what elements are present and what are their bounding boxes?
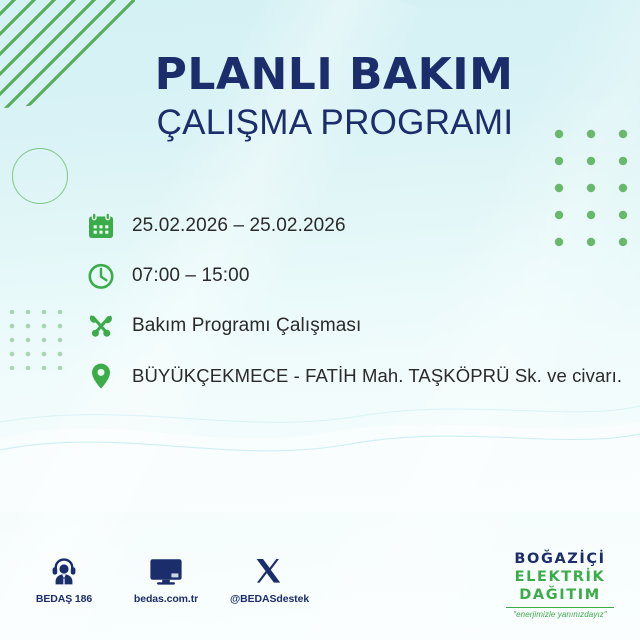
brand-tagline: "enerjimizle yanınızdayız" [494,610,626,619]
detail-value-time: 07:00 – 15:00 [132,265,250,287]
brand-line-dagitim: DAĞITIM [494,586,626,604]
detail-row-work-type: Bakım Programı Çalışması [84,302,632,350]
location-pin-icon [84,359,118,393]
maintenance-details-list: 25.02.2026 – 25.02.2026 07:00 – 15:00 [84,202,632,402]
footer: BEDAŞ 186 bedas.com.tr [0,544,640,640]
footer-link-website[interactable]: bedas.com.tr [128,552,204,605]
dot-grid-left-decoration [8,308,66,370]
footer-link-call-center[interactable]: BEDAŞ 186 [26,552,102,605]
x-social-icon [230,552,306,586]
monitor-icon [128,552,204,586]
poster-heading-block: PLANLI BAKIM ÇALIŞMA PROGRAMI [0,53,640,142]
page-subtitle: ÇALIŞMA PROGRAMI [0,104,640,143]
calendar-icon [84,209,118,243]
footer-label-website: bedas.com.tr [128,593,204,605]
footer-contact-links: BEDAŞ 186 bedas.com.tr [26,552,306,605]
page-title: PLANLI BAKIM [0,53,640,98]
detail-value-work-type: Bakım Programı Çalışması [132,315,361,337]
detail-value-date: 25.02.2026 – 25.02.2026 [132,215,346,237]
tools-icon [84,309,118,343]
detail-value-location: BÜYÜKÇEKMECE - FATİH Mah. TAŞKÖPRÜ Sk. v… [132,365,622,387]
brand-logo: BOĞAZİÇİ ELEKTRİK DAĞITIM "enerjimizle y… [494,550,626,619]
detail-row-location: BÜYÜKÇEKMECE - FATİH Mah. TAŞKÖPRÜ Sk. v… [84,352,632,400]
detail-row-time: 07:00 – 15:00 [84,252,632,300]
support-headset-icon [26,552,102,586]
circle-outline-decoration [12,148,68,204]
footer-link-x-social[interactable]: @BEDASdestek [230,552,306,605]
footer-label-x-social: @BEDASdestek [230,593,306,605]
brand-line-bogazici: BOĞAZİÇİ [494,550,626,568]
wave-divider [0,392,640,512]
clock-icon [84,259,118,293]
brand-divider [506,607,614,608]
detail-row-date: 25.02.2026 – 25.02.2026 [84,202,632,250]
planned-maintenance-poster: PLANLI BAKIM ÇALIŞMA PROGRAMI [0,0,640,640]
footer-label-call-center: BEDAŞ 186 [26,593,102,605]
brand-line-elektrik: ELEKTRİK [494,568,626,586]
